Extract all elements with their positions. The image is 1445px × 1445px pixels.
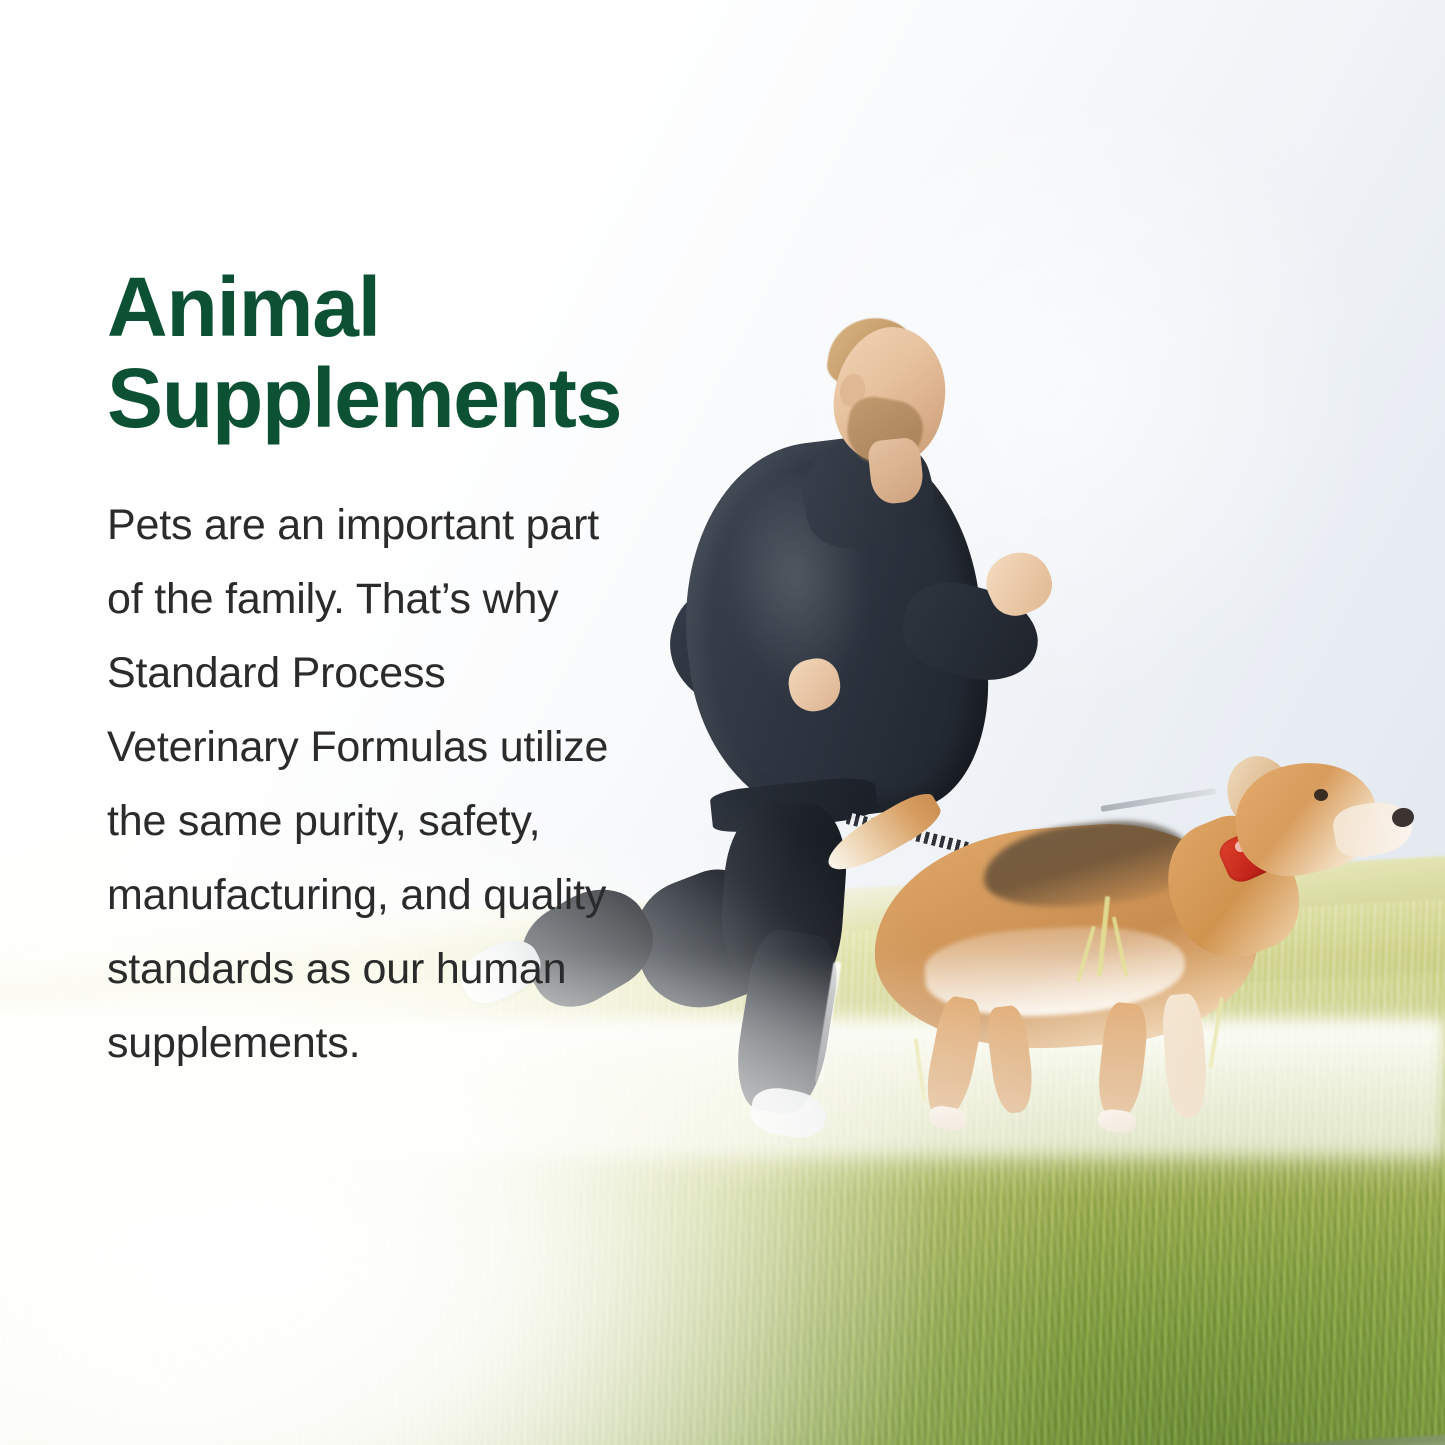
- dog-eye: [1314, 789, 1328, 801]
- animal-supplements-poster: Animal Supplements Pets are an important…: [0, 0, 1445, 1445]
- copy-block: Animal Supplements Pets are an important…: [107, 262, 687, 1081]
- body-paragraph: Pets are an important part of the family…: [107, 489, 642, 1081]
- page-title: Animal Supplements: [107, 262, 687, 443]
